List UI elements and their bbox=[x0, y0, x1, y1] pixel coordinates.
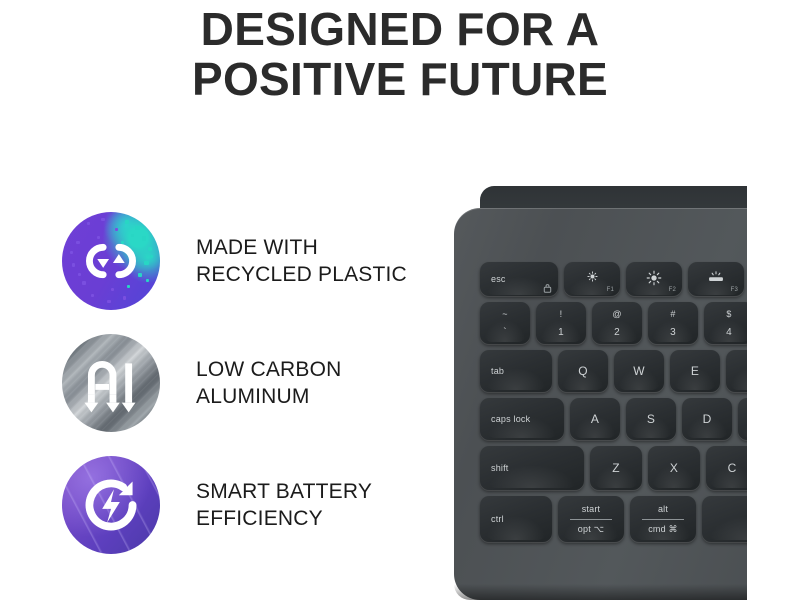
key-f-label: F bbox=[738, 412, 747, 426]
key-caps-lock-label: caps lock bbox=[491, 414, 530, 424]
keyboard-image: esc bbox=[447, 186, 747, 600]
key-c-label: C bbox=[706, 461, 747, 475]
key-cmd-label: cmd ⌘ bbox=[630, 524, 696, 535]
key-q-label: Q bbox=[558, 364, 608, 378]
headline-line-1: DESIGNED FOR A bbox=[0, 4, 800, 54]
brightness-up-icon bbox=[626, 270, 682, 286]
key-tilde-upper: ~ bbox=[480, 309, 530, 319]
key-divider bbox=[642, 519, 684, 520]
key-2-lower: 2 bbox=[592, 327, 642, 338]
feature-line-2: RECYCLED PLASTIC bbox=[196, 261, 407, 288]
key-f2-label: F2 bbox=[669, 287, 676, 293]
key-q[interactable]: Q bbox=[558, 350, 608, 392]
key-grave-lower: ` bbox=[480, 327, 530, 338]
key-c[interactable]: C bbox=[706, 446, 747, 490]
brightness-down-icon bbox=[564, 270, 620, 283]
key-f3[interactable]: F3 bbox=[688, 262, 744, 296]
feature-line-2: ALUMINUM bbox=[196, 383, 342, 410]
key-4[interactable]: $ 4 bbox=[704, 302, 747, 344]
key-r-label: R bbox=[726, 364, 747, 378]
key-start-label: start bbox=[558, 504, 624, 514]
key-d-label: D bbox=[682, 412, 732, 426]
key-tilde-grave[interactable]: ~ ` bbox=[480, 302, 530, 344]
key-3-upper: # bbox=[648, 309, 698, 319]
key-f1[interactable]: F1 bbox=[564, 262, 620, 296]
feature-low-carbon-aluminum: LOW CARBON ALUMINUM bbox=[58, 330, 448, 452]
key-alt-label: alt bbox=[630, 504, 696, 514]
backlight-icon bbox=[688, 270, 744, 283]
product-feature-graphic: DESIGNED FOR A POSITIVE FUTURE bbox=[0, 0, 800, 600]
key-w[interactable]: W bbox=[614, 350, 664, 392]
page-title: DESIGNED FOR A POSITIVE FUTURE bbox=[0, 4, 800, 104]
key-z-label: Z bbox=[590, 461, 642, 475]
key-esc[interactable]: esc bbox=[480, 262, 558, 296]
key-r[interactable]: R bbox=[726, 350, 747, 392]
lock-icon bbox=[543, 283, 552, 293]
key-ctrl[interactable]: ctrl bbox=[480, 496, 552, 542]
key-a-label: A bbox=[570, 412, 620, 426]
feature-line-1: MADE WITH bbox=[196, 234, 407, 261]
feature-label-low-carbon-aluminum: LOW CARBON ALUMINUM bbox=[196, 356, 342, 410]
key-s-label: S bbox=[626, 412, 676, 426]
key-alt-cmd[interactable]: alt cmd ⌘ bbox=[630, 496, 696, 542]
key-4-lower: 4 bbox=[704, 327, 747, 338]
key-e-label: E bbox=[670, 364, 720, 378]
key-1[interactable]: ! 1 bbox=[536, 302, 586, 344]
key-caps-lock[interactable]: caps lock bbox=[480, 398, 564, 440]
key-tab-label: tab bbox=[491, 366, 504, 376]
key-z[interactable]: Z bbox=[590, 446, 642, 490]
recycled-plastic-icon bbox=[62, 212, 160, 310]
feature-list: MADE WITH RECYCLED PLASTIC bbox=[58, 208, 448, 574]
key-a[interactable]: A bbox=[570, 398, 620, 440]
feature-label-smart-battery: SMART BATTERY EFFICIENCY bbox=[196, 478, 372, 532]
key-f1-label: F1 bbox=[607, 287, 614, 293]
key-1-lower: 1 bbox=[536, 327, 586, 338]
key-shift-label: shift bbox=[491, 463, 509, 473]
key-e[interactable]: E bbox=[670, 350, 720, 392]
feature-label-recycled-plastic: MADE WITH RECYCLED PLASTIC bbox=[196, 234, 407, 288]
feature-smart-battery: SMART BATTERY EFFICIENCY bbox=[58, 452, 448, 574]
key-s[interactable]: S bbox=[626, 398, 676, 440]
key-w-label: W bbox=[614, 364, 664, 378]
key-ctrl-label: ctrl bbox=[491, 514, 504, 524]
key-d[interactable]: D bbox=[682, 398, 732, 440]
feature-recycled-plastic: MADE WITH RECYCLED PLASTIC bbox=[58, 208, 448, 330]
key-3[interactable]: # 3 bbox=[648, 302, 698, 344]
key-esc-label: esc bbox=[491, 274, 506, 284]
key-2[interactable]: @ 2 bbox=[592, 302, 642, 344]
headline-line-2: POSITIVE FUTURE bbox=[0, 54, 800, 104]
key-2-upper: @ bbox=[592, 309, 642, 319]
feature-line-1: SMART BATTERY bbox=[196, 478, 372, 505]
key-f2[interactable]: F2 bbox=[626, 262, 682, 296]
key-spacebar[interactable] bbox=[702, 496, 747, 542]
smart-battery-icon bbox=[62, 456, 160, 554]
key-x-label: X bbox=[648, 461, 700, 475]
key-shift[interactable]: shift bbox=[480, 446, 584, 490]
key-start-opt[interactable]: start opt ⌥ bbox=[558, 496, 624, 542]
key-f[interactable]: F bbox=[738, 398, 747, 440]
keyboard-deck: esc bbox=[454, 208, 747, 600]
key-divider bbox=[570, 519, 612, 520]
key-4-upper: $ bbox=[704, 309, 747, 319]
key-tab[interactable]: tab bbox=[480, 350, 552, 392]
feature-line-2: EFFICIENCY bbox=[196, 505, 372, 532]
key-opt-label: opt ⌥ bbox=[558, 524, 624, 535]
feature-line-1: LOW CARBON bbox=[196, 356, 342, 383]
key-f3-label: F3 bbox=[731, 287, 738, 293]
low-carbon-aluminum-icon bbox=[62, 334, 160, 432]
key-3-lower: 3 bbox=[648, 327, 698, 338]
key-1-upper: ! bbox=[536, 309, 586, 319]
key-x[interactable]: X bbox=[648, 446, 700, 490]
